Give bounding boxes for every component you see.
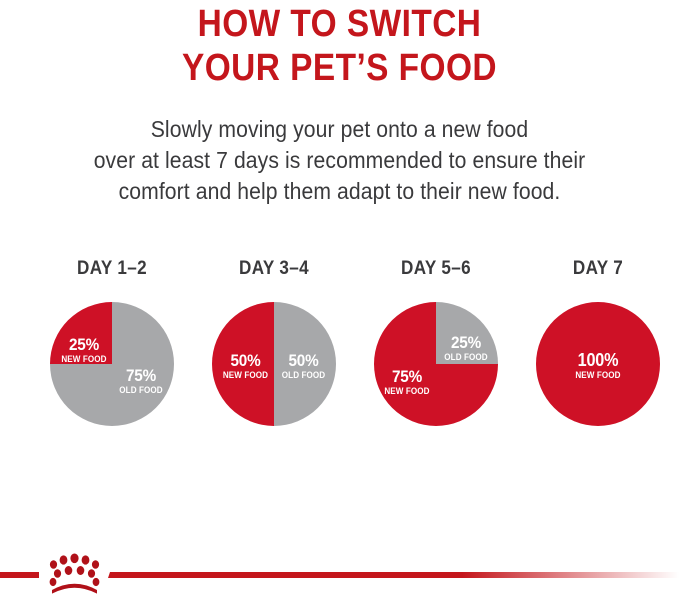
pie-chart-day-1-2: DAY 1–2 25% NEW FOOD 75% OLD FOOD xyxy=(31,258,193,438)
pie-graphic-3: 25% OLD FOOD 75% NEW FOOD xyxy=(374,302,498,426)
title-line-1: HOW TO SWITCH xyxy=(41,2,639,46)
pie-chart-row: DAY 1–2 25% NEW FOOD 75% OLD FOOD xyxy=(0,258,679,438)
pie-chart-day-5-6: DAY 5–6 25% OLD FOOD 75% NEW FOOD xyxy=(355,258,517,438)
footer xyxy=(0,540,679,594)
intro-line-1: Slowly moving your pet onto a new food xyxy=(27,114,652,145)
pie-chart-day-7: DAY 7 100% NEW FOOD xyxy=(517,258,679,438)
title-line-2: YOUR PET’S FOOD xyxy=(41,46,639,90)
day-label-2: DAY 3–4 xyxy=(201,258,347,280)
page-title: HOW TO SWITCH YOUR PET’S FOOD xyxy=(0,2,679,90)
intro-paragraph: Slowly moving your pet onto a new food o… xyxy=(0,114,679,207)
day-label-4: DAY 7 xyxy=(525,258,671,280)
day-label-3: DAY 5–6 xyxy=(363,258,509,280)
pie-graphic-1: 25% NEW FOOD 75% OLD FOOD xyxy=(50,302,174,426)
pie-chart-day-3-4: DAY 3–4 50% NEW FOOD 50% OLD FOOD xyxy=(193,258,355,438)
intro-line-3: comfort and help them adapt to their new… xyxy=(27,176,652,207)
footer-rule-left xyxy=(0,572,39,578)
infographic-page: HOW TO SWITCH YOUR PET’S FOOD Slowly mov… xyxy=(0,0,679,594)
pie-graphic-4: 100% NEW FOOD xyxy=(536,302,660,426)
intro-line-2: over at least 7 days is recommended to e… xyxy=(27,145,652,176)
footer-rule-right xyxy=(108,572,679,578)
day-label-1: DAY 1–2 xyxy=(39,258,185,280)
royal-canin-crown-logo xyxy=(50,554,100,594)
pie-graphic-2: 50% NEW FOOD 50% OLD FOOD xyxy=(212,302,336,426)
